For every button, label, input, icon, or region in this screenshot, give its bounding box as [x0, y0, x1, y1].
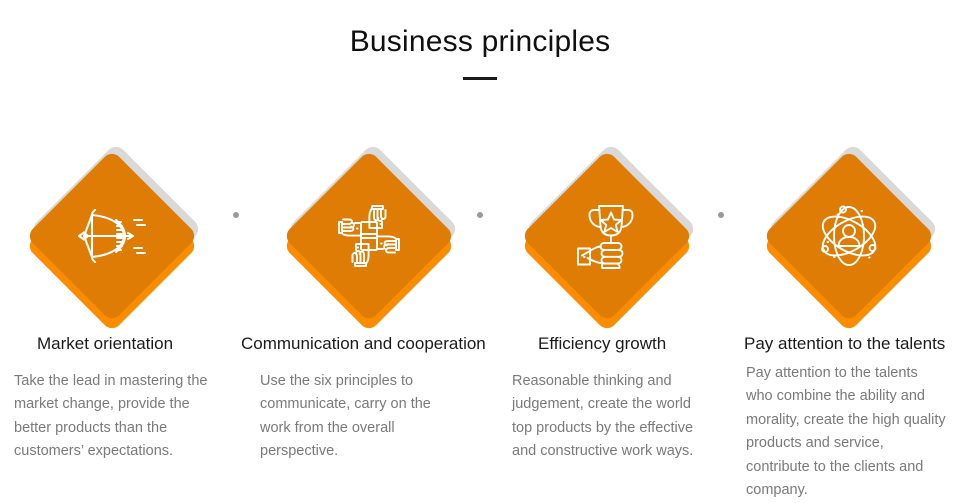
- principle-title: Pay attention to the talents: [744, 334, 945, 354]
- hand-holding-trophy-icon: [546, 175, 668, 297]
- principle-description: Take the lead in mastering the market ch…: [14, 370, 219, 464]
- principle-title: Communication and cooperation: [241, 334, 486, 354]
- principle-description: Pay attention to the talents who combine…: [746, 362, 946, 503]
- four-hands-teamwork-icon: [308, 175, 430, 297]
- diamond-badge[interactable]: [522, 128, 694, 318]
- principles-row: Market orientation Take the lead in mast…: [0, 0, 960, 495]
- separator-dot: [718, 212, 724, 218]
- principle-description: Reasonable thinking and judgement, creat…: [512, 370, 704, 464]
- separator-dot: [477, 212, 483, 218]
- principle-title: Market orientation: [37, 334, 173, 354]
- bow-and-arrow-icon: [51, 175, 173, 297]
- diamond-badge[interactable]: [284, 128, 456, 318]
- separator-dot: [233, 212, 239, 218]
- slide-canvas: Business principles: [0, 0, 960, 495]
- atom-person-icon: [788, 175, 910, 297]
- principle-title: Efficiency growth: [538, 334, 666, 354]
- diamond-badge[interactable]: [27, 128, 199, 318]
- diamond-badge[interactable]: [764, 128, 936, 318]
- principle-description: Use the six principles to communicate, c…: [260, 370, 460, 464]
